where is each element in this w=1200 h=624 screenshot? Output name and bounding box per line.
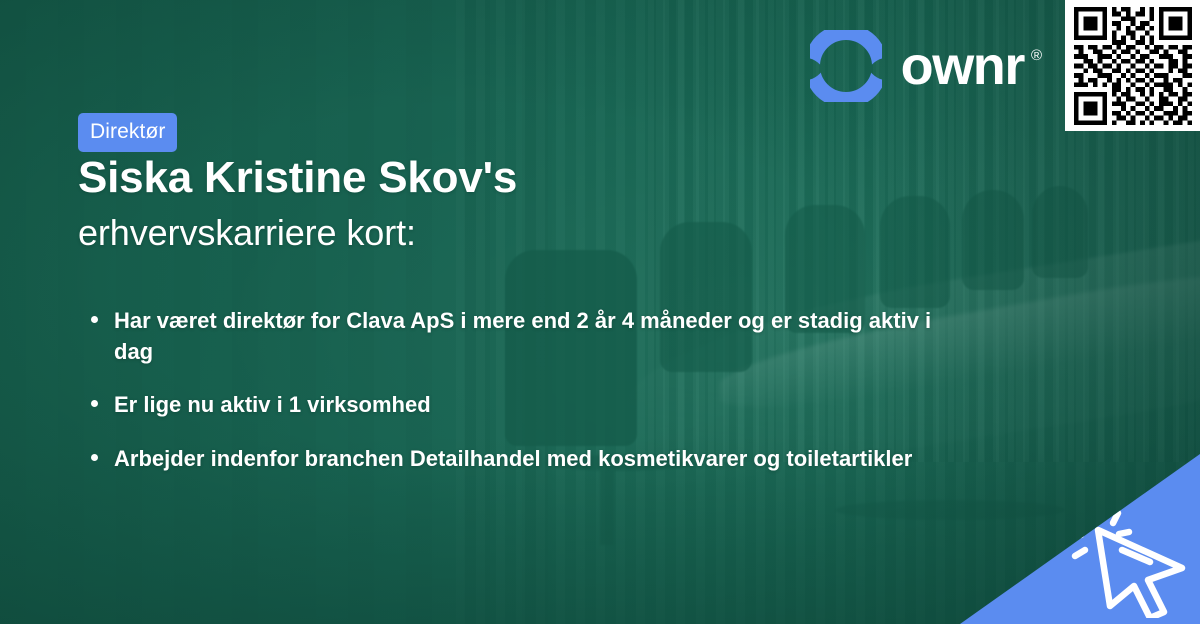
qr-code-panel[interactable]: [1065, 0, 1200, 131]
bullet-dot-icon: [91, 316, 98, 323]
role-badge: Direktør: [78, 113, 177, 152]
list-item: Har været direktør for Clava ApS i mere …: [86, 305, 946, 367]
page-title: Siska Kristine Skov's: [78, 156, 958, 200]
promo-card: ownr® Direktør Siska Kristine Skov's erh…: [0, 0, 1200, 624]
registered-trademark-symbol: ®: [1031, 48, 1042, 63]
career-summary-list: Har været direktør for Clava ApS i mere …: [86, 305, 946, 496]
bullet-dot-icon: [91, 454, 98, 461]
page-subtitle: erhvervskarriere kort:: [78, 215, 958, 251]
list-item-label: Er lige nu aktiv i 1 virksomhed: [114, 392, 431, 417]
card-content: Direktør Siska Kristine Skov's erhvervsk…: [78, 0, 978, 624]
list-item: Arbejder indenfor branchen Detailhandel …: [86, 443, 946, 474]
list-item-label: Arbejder indenfor branchen Detailhandel …: [114, 446, 912, 471]
qr-code-image: [1074, 7, 1192, 125]
list-item-label: Har været direktør for Clava ApS i mere …: [114, 308, 931, 364]
list-item: Er lige nu aktiv i 1 virksomhed: [86, 389, 946, 420]
bullet-dot-icon: [91, 400, 98, 407]
